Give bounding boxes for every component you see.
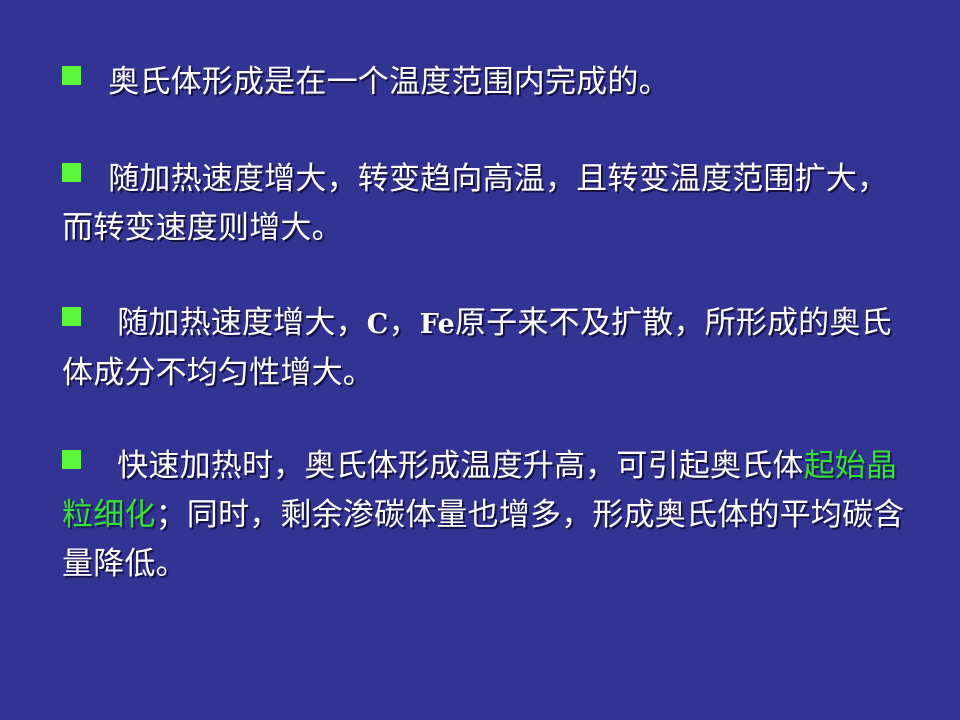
slide-body: 奥氏体形成是在一个温度范围内完成的。 随加热速度增大，转变趋向高温，且转变温度范… xyxy=(62,58,910,589)
green-square-bullet-icon xyxy=(62,450,81,469)
green-square-bullet-icon xyxy=(62,66,81,85)
element-symbol-iron: Fe xyxy=(420,309,455,340)
bullet-text-4-after: ；同时，剩余渗碳体量也增多，形成奥氏体的平均碳含量降低。 xyxy=(62,497,904,582)
bullet-text-1: 奥氏体形成是在一个温度范围内完成的。 xyxy=(108,64,670,100)
green-square-bullet-icon xyxy=(62,307,81,326)
bullet-item: 随加热速度增大，转变趋向高温，且转变温度范围扩大，而转变速度则增大。 xyxy=(62,155,910,253)
bullet-text-3-before: 随加热速度增大， xyxy=(117,305,367,341)
bullet-text-4-before: 快速加热时，奥氏体形成温度升高，可引起奥氏体 xyxy=(117,448,803,484)
green-square-bullet-icon xyxy=(62,163,81,182)
bullet-item: 随加热速度增大，C，Fe原子来不及扩散，所形成的奥氏体成分不均匀性增大。 xyxy=(62,299,910,398)
bullet-item: 奥氏体形成是在一个温度范围内完成的。 xyxy=(62,58,910,107)
slide-canvas: 奥氏体形成是在一个温度范围内完成的。 随加热速度增大，转变趋向高温，且转变温度范… xyxy=(0,0,960,720)
bullet-text-2: 随加热速度增大，转变趋向高温，且转变温度范围扩大，而转变速度则增大。 xyxy=(62,161,888,246)
bullet-text-3-mid: ， xyxy=(389,305,420,341)
element-symbol-carbon: C xyxy=(367,309,389,340)
bullet-item: 快速加热时，奥氏体形成温度升高，可引起奥氏体起始晶粒细化；同时，剩余渗碳体量也增… xyxy=(62,442,910,589)
